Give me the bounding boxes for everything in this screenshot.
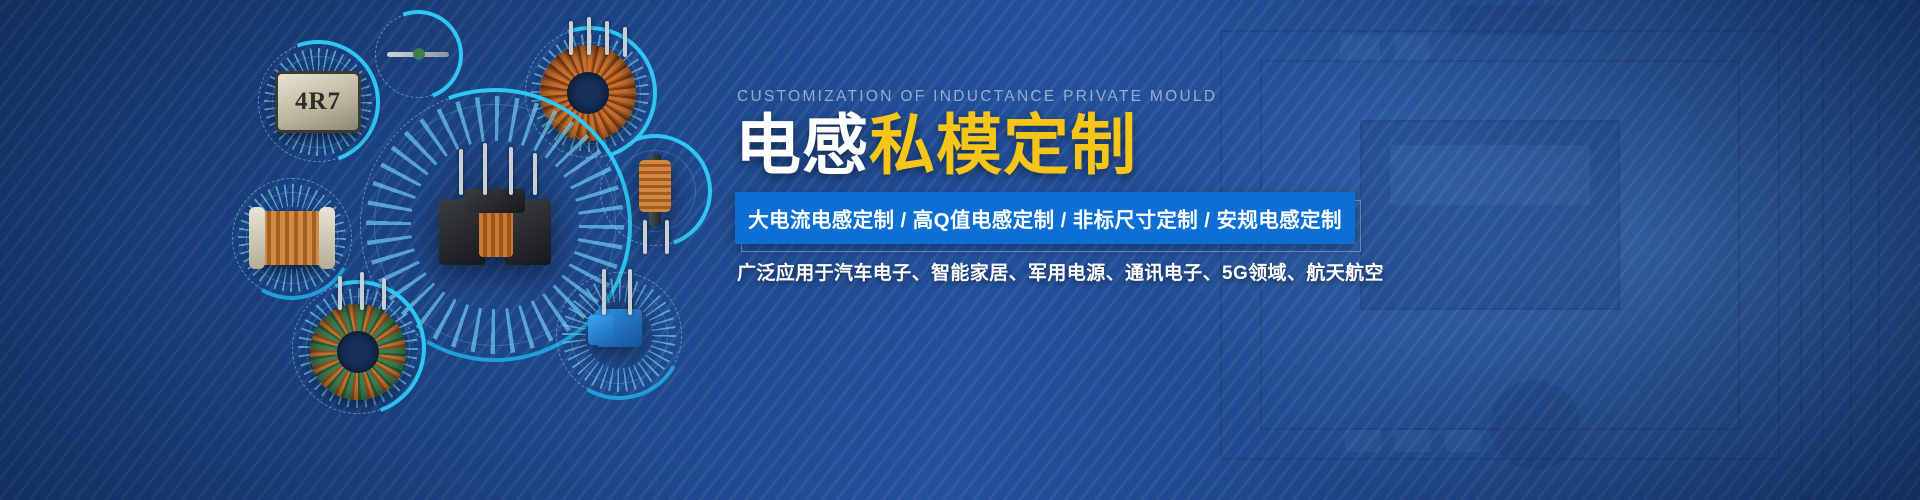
banner-content: CUSTOMIZATION OF INDUCTANCE PRIVATE MOUL… — [735, 0, 1415, 500]
product-rod-core-inductor — [627, 154, 683, 228]
tech-ring-blue-inductor — [556, 272, 682, 398]
product-toroidal-inductor-green — [302, 296, 414, 400]
headline-white-part: 电感 — [735, 108, 869, 182]
tagline-bar: 大电流电感定制 / 高Q值电感定制 / 非标尺寸定制 / 安规电感定制 — [735, 192, 1355, 244]
product-chip-4r7: 4R7 — [275, 71, 361, 133]
tagline-text: 大电流电感定制 / 高Q值电感定制 / 非标尺寸定制 / 安规电感定制 — [748, 203, 1342, 233]
tech-ring-drum-core — [232, 178, 352, 298]
product-common-mode-choke — [435, 177, 555, 273]
tech-ring-green-toroid — [292, 282, 424, 414]
tech-ring-rod-inductor — [600, 136, 710, 246]
banner-description: 广泛应用于汽车电子、智能家居、军用电源、通讯电子、5G领域、航天航空 — [737, 258, 1384, 285]
banner-eyebrow: CUSTOMIZATION OF INDUCTANCE PRIVATE MOUL… — [737, 88, 1217, 106]
tech-ring-chip-4r7: 4R7 — [258, 42, 378, 162]
headline-yellow-part: 私模定制 — [869, 108, 1137, 182]
product-drum-core-inductor — [249, 203, 335, 273]
tagline-wrapper: 大电流电感定制 / 高Q值电感定制 / 非标尺寸定制 / 安规电感定制 — [735, 192, 1361, 246]
tech-ring-small-top — [375, 12, 461, 98]
product-banner: 4R7 — [0, 0, 1920, 500]
chip-label: 4R7 — [295, 88, 341, 116]
product-radial-inductor-blue — [588, 309, 650, 361]
banner-headline: 电感私模定制 — [735, 110, 1137, 181]
